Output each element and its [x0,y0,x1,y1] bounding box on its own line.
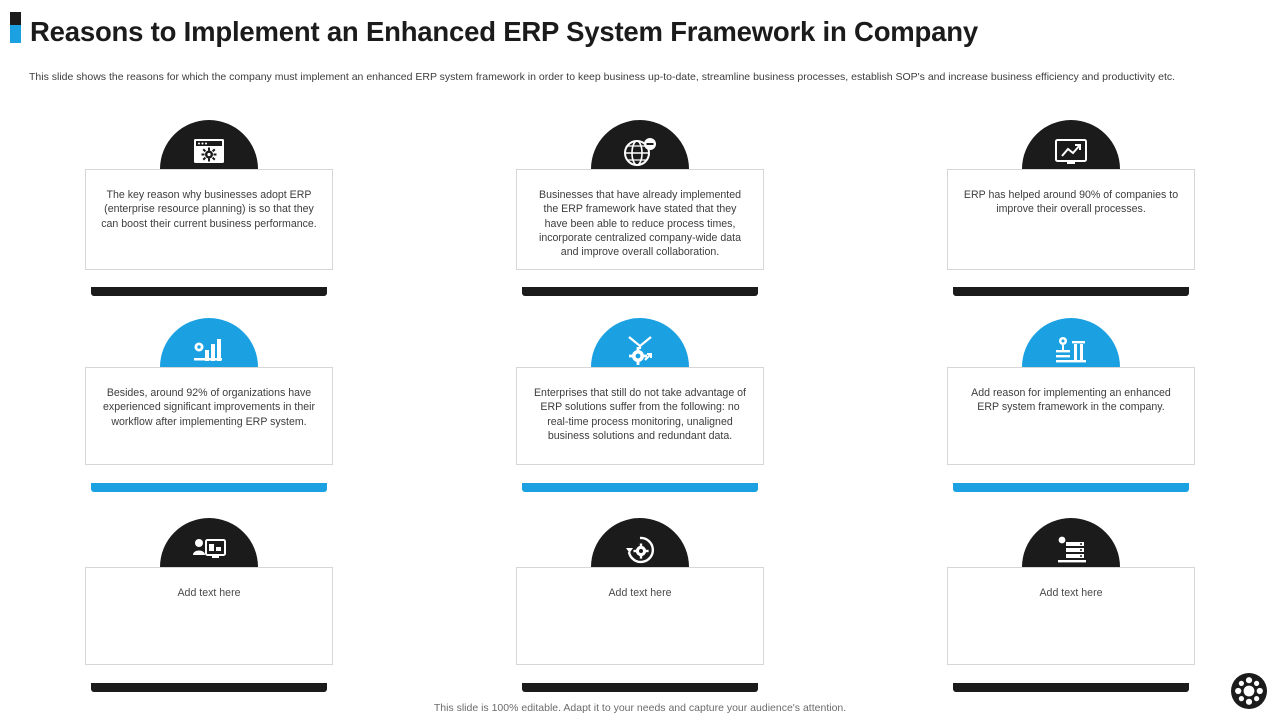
card-1-foot [91,287,327,296]
card-3-text: ERP has helped around 90% of companies t… [962,188,1180,217]
card-8-text: Add text here [608,586,671,600]
card-3-icon-dome [1022,120,1120,169]
slide-header: Reasons to Implement an Enhanced ERP Sys… [0,0,1280,62]
card-4-text: Besides, around 92% of organizations hav… [100,386,318,429]
card-4-foot [91,483,327,492]
target-gear-arrow-icon [591,318,689,367]
card-4-body: Besides, around 92% of organizations hav… [85,367,333,465]
card-7-body: Add text here [85,567,333,665]
slide-subtitle: This slide shows the reasons for which t… [29,70,1234,84]
card-9-foot [953,683,1189,692]
card-5-body: Enterprises that still do not take advan… [516,367,764,465]
card-9-text: Add text here [1039,586,1102,600]
card-2-foot [522,287,758,296]
bar-chart-gear-icon [160,318,258,367]
card-6-body: Add reason for implementing an enhanced … [947,367,1195,465]
card-7-icon-dome [160,518,258,567]
card-2-body: Businesses that have already implemented… [516,169,764,270]
card-6-foot [953,483,1189,492]
card-2-text: Businesses that have already implemented… [531,188,749,259]
footer-note: This slide is 100% editable. Adapt it to… [0,702,1280,714]
card-3-foot [953,287,1189,296]
card-4-icon-dome [160,318,258,367]
accent-bar-blue [10,25,21,43]
card-8-body: Add text here [516,567,764,665]
card-1-text: The key reason why businesses adopt ERP … [100,188,318,231]
accent-bar-dark [10,12,21,25]
card-9-body: Add text here [947,567,1195,665]
gear-refresh-icon [591,518,689,567]
monitor-growth-icon [1022,120,1120,169]
card-5-text: Enterprises that still do not take advan… [531,386,749,443]
server-desk-icon [1022,518,1120,567]
factory-gear-icon [1022,318,1120,367]
card-2-icon-dome [591,120,689,169]
card-5-icon-dome [591,318,689,367]
card-9-icon-dome [1022,518,1120,567]
card-7-foot [91,683,327,692]
card-7-text: Add text here [177,586,240,600]
browser-settings-icon [160,120,258,169]
circular-dots-logo [1230,672,1268,710]
user-monitor-icon [160,518,258,567]
card-6-icon-dome [1022,318,1120,367]
card-8-icon-dome [591,518,689,567]
card-3-body: ERP has helped around 90% of companies t… [947,169,1195,270]
globe-minus-icon [591,120,689,169]
card-1-body: The key reason why businesses adopt ERP … [85,169,333,270]
card-8-foot [522,683,758,692]
card-6-text: Add reason for implementing an enhanced … [962,386,1180,415]
card-5-foot [522,483,758,492]
card-1-icon-dome [160,120,258,169]
page-title: Reasons to Implement an Enhanced ERP Sys… [30,16,978,48]
